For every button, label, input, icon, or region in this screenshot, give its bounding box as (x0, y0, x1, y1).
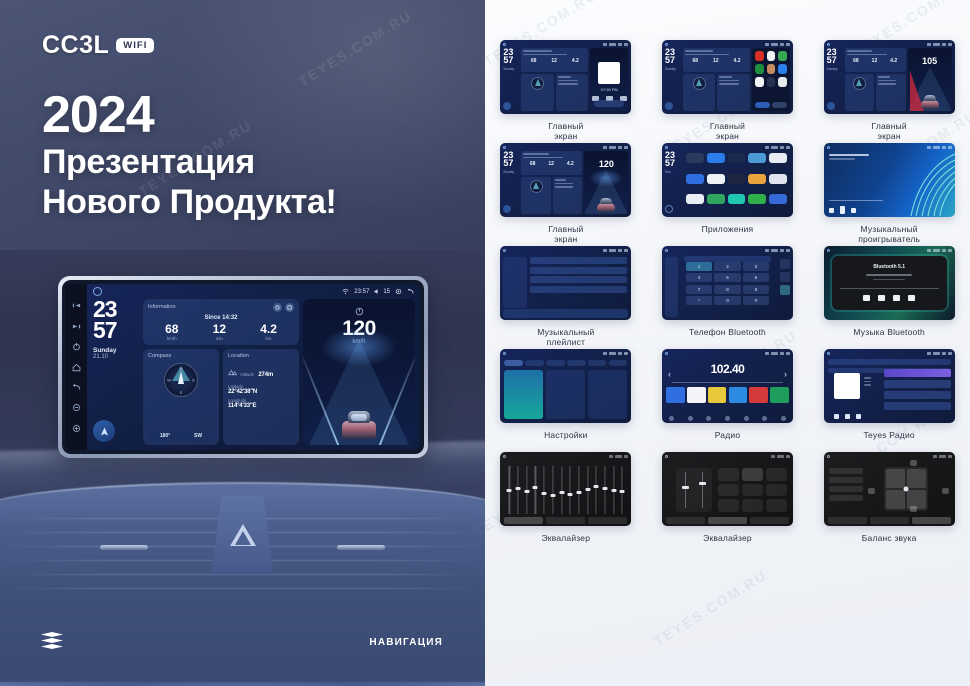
settings-cards[interactable] (504, 370, 627, 419)
balance-tabs[interactable] (828, 517, 951, 524)
wifi-badge: WIFI (116, 38, 154, 53)
navigation-fab-button[interactable] (93, 420, 115, 442)
gallery-item[interactable]: Музыкальныйпроигрыватель (808, 143, 970, 246)
radio-frequency: 102.40 (662, 362, 793, 376)
stat-unit: km/h (165, 336, 178, 341)
mountain-icon (228, 368, 237, 377)
screen-thumbnail-teyes-radio[interactable] (824, 349, 955, 423)
back-button[interactable] (72, 383, 81, 392)
thumbnail-caption: Музыка Bluetooth (853, 327, 925, 349)
compass-north: N (180, 366, 183, 371)
clock-minutes: 57 (93, 320, 139, 341)
screen-thumbnail-dialer[interactable]: 1 2 3 4 5 6 7 8 9 * 0 # (662, 246, 793, 320)
compass-west: W (167, 378, 171, 383)
hero-year: 2024 (42, 88, 462, 142)
screen-thumbnail-home-drive[interactable]: 2357Sunday 68124.2 105 (824, 40, 955, 114)
thumbnail-caption: Главныйэкран (548, 224, 583, 246)
next-track-button[interactable] (72, 322, 81, 331)
thumbnail-caption: Главныйэкран (872, 121, 907, 143)
dial-key[interactable]: 7 (686, 285, 712, 294)
status-time: 23:57 (354, 289, 369, 295)
screen-thumbnail-player[interactable] (824, 143, 955, 217)
watermark: TEYES.COM.RU (296, 7, 415, 90)
thumbnail-caption: Главныйэкран (710, 121, 745, 143)
gallery-item[interactable]: 2357Sunday 68124.2 (647, 40, 809, 143)
thumbnail-caption: Главныйэкран (548, 121, 583, 143)
stat-value: 4.2 (260, 323, 277, 335)
gallery-item[interactable]: 2357Sunday 68124.2 120 (485, 143, 647, 246)
balance-left-button[interactable] (868, 488, 875, 494)
wifi-card (504, 370, 543, 419)
head-unit-bezel: 23:57 15 (62, 280, 424, 454)
gallery-item[interactable]: 1 2 3 4 5 6 7 8 9 * 0 # Телеф (647, 246, 809, 349)
backspace-icon (780, 272, 790, 282)
dial-key[interactable]: 5 (714, 273, 740, 282)
teyes-station-list[interactable] (884, 369, 951, 419)
hero-panel: TEYES.COM.RU TEYES.COM.RU TEYES.COM.RU C… (0, 0, 485, 686)
screen-thumbnail-bt-music[interactable]: Bluetooth 5.1 (824, 246, 955, 320)
gallery-item[interactable]: 2357Sun Приложения (647, 143, 809, 246)
product-logo: CC3L WIFI (42, 33, 154, 58)
thumbnail-grid: 2357Sunday 68124.2 07:50 PM Главныйэкран (485, 40, 970, 555)
clock-date: 21.10 (93, 354, 139, 360)
thumbnail-caption: Приложения (702, 224, 754, 246)
navigation-label: НАВИГАЦИЯ (369, 637, 443, 648)
volume-up-button[interactable] (72, 424, 81, 433)
radio-dock[interactable] (662, 416, 793, 421)
hero-title-line2: Нового Продукта! (42, 182, 462, 222)
location-widget[interactable]: Location Altitude 274m (223, 349, 299, 445)
more-card (588, 370, 627, 419)
thumbnail-caption: Teyes Радио (864, 430, 915, 452)
equalizer-tabs[interactable] (666, 517, 789, 524)
gallery-item[interactable]: Баланс звука (808, 452, 970, 555)
watermark: TEYES.COM.RU (651, 567, 770, 650)
screen-thumbnail-home-apps[interactable]: 2357Sunday 68124.2 (662, 40, 793, 114)
screen-thumbnail-radio[interactable]: 102.40 ‹ › (662, 349, 793, 423)
information-title: Information (148, 304, 176, 310)
dial-key[interactable]: 9 (743, 285, 769, 294)
prev-icon (863, 295, 870, 301)
car-body (342, 421, 376, 439)
compass-title: Compass (148, 353, 214, 359)
next-station-button[interactable]: › (784, 369, 787, 379)
expand-icon[interactable] (285, 303, 294, 312)
information-header: Information (148, 303, 294, 312)
thumbnail-caption: Настройки (544, 430, 587, 452)
latitude-value: 22°42'38"N (228, 389, 294, 395)
compass-widget[interactable]: Compass N S W E (143, 349, 219, 445)
widget-column: Information Since 14:32 (143, 299, 299, 445)
compass-readout: 180° SW (148, 431, 214, 441)
wifi-icon (342, 288, 349, 295)
speed-gauge-icon (355, 307, 364, 316)
compass-direction: SW (194, 433, 202, 439)
thumbnail-caption: Радио (715, 430, 741, 452)
gallery-item[interactable]: Музыкальныйплейлист (485, 246, 647, 349)
eq2-preset-grid[interactable] (718, 468, 787, 512)
call-icon (780, 285, 790, 295)
stat-item: 12 min (213, 323, 226, 341)
thumb-speed-value: 120 (584, 159, 628, 169)
play-pause-icon (878, 295, 885, 301)
car-window (351, 414, 367, 421)
information-since: Since 14:32 (148, 315, 294, 321)
lead-car-model (342, 411, 376, 439)
location-title: Location (228, 353, 294, 359)
hazard-triangle-icon (230, 524, 256, 547)
back-icon[interactable] (407, 288, 414, 295)
dial-key[interactable]: 0 (714, 296, 740, 305)
hardware-button-bar[interactable] (65, 284, 87, 450)
thumbnail-caption: Музыкальныйпроигрыватель (858, 224, 920, 246)
dialer-keypad[interactable]: 1 2 3 4 5 6 7 8 9 * 0 # (686, 262, 769, 305)
gallery-item[interactable]: 2357Sunday 68124.2 07:50 PM Главныйэкран (485, 40, 647, 143)
presentation-slide: TEYES.COM.RU TEYES.COM.RU TEYES.COM.RU C… (0, 0, 970, 686)
logo-text: CC3L (42, 33, 109, 58)
home-button[interactable] (72, 363, 81, 372)
gallery-item[interactable]: Эквалайзер (647, 452, 809, 555)
power-button[interactable] (72, 342, 81, 351)
bluetooth-card (546, 370, 585, 419)
compass-needle (178, 371, 184, 384)
refresh-icon[interactable] (273, 303, 282, 312)
clock-weekday: Sunday (93, 347, 139, 354)
dial-key[interactable]: 3 (743, 262, 769, 271)
screen-thumbnail-balance[interactable] (824, 452, 955, 526)
head-unit-screen[interactable]: 23:57 15 (87, 284, 420, 450)
gallery-item[interactable]: Настройки (485, 349, 647, 452)
stop-icon (893, 295, 900, 301)
equalizer-tabs[interactable] (504, 517, 627, 524)
altitude-label: Altitude (240, 372, 254, 377)
location-latitude: Latitude 22°42'38"N (228, 384, 294, 395)
compass-south: S (180, 390, 183, 395)
screen-thumbnail-apps[interactable]: 2357Sun (662, 143, 793, 217)
prev-track-button[interactable] (72, 301, 81, 310)
equalizer-sliders[interactable] (506, 466, 625, 514)
dial-key[interactable]: * (686, 296, 712, 305)
thumbnail-caption: Эквалайзер (703, 533, 752, 555)
gallery-item[interactable]: Bluetooth 5.1 Музыка Bluetooth (808, 246, 970, 349)
volume-down-button[interactable] (72, 403, 81, 412)
information-widget[interactable]: Information Since 14:32 (143, 299, 299, 345)
dial-key[interactable]: 2 (714, 262, 740, 271)
screen-thumbnail-home-speed[interactable]: 2357Sunday 68124.2 120 (500, 143, 631, 217)
prev-station-button[interactable]: ‹ (668, 369, 671, 379)
widget-row: Compass N S W E (143, 349, 299, 445)
compass-heading: 180° (160, 433, 170, 439)
screen-thumbnail-home-media[interactable]: 2357Sunday 68124.2 07:50 PM (500, 40, 631, 114)
console-slot-left (100, 545, 148, 550)
thumbnail-caption: Баланс звука (862, 533, 917, 555)
gallery-item[interactable]: Эквалайзер (485, 452, 647, 555)
drive-assist-panel[interactable]: 120 km/h (303, 299, 415, 445)
dial-key[interactable]: 8 (714, 285, 740, 294)
hero-title-line1: Презентация (42, 142, 462, 182)
hero-footer: НАВИГАЦИЯ (0, 600, 485, 686)
balance-presets[interactable] (829, 468, 863, 504)
thumbnail-caption: Телефон Bluetooth (689, 327, 766, 349)
hazard-light-button[interactable] (212, 496, 274, 574)
screen-thumbnail-equalizer[interactable] (500, 452, 631, 526)
radio-presets[interactable] (666, 387, 789, 403)
information-actions[interactable] (273, 303, 294, 312)
stat-item: 68 km/h (165, 323, 178, 341)
stat-value: 68 (165, 323, 178, 335)
dialer-side-actions[interactable] (780, 259, 790, 298)
stat-unit: km (260, 336, 277, 341)
eq2-slider-panel[interactable] (676, 468, 712, 512)
bt-transport-controls[interactable] (832, 295, 947, 301)
layers-stack-icon (41, 632, 63, 650)
compass-east: E (192, 378, 195, 383)
status-bar: 23:57 15 (87, 284, 420, 299)
screen-body: 23 57 Sunday 21.10 (87, 299, 420, 450)
screen-thumbnail-playlist[interactable] (500, 246, 631, 320)
bt-title: Bluetooth 5.1 (832, 264, 947, 270)
clock-column: 23 57 Sunday 21.10 (93, 299, 139, 445)
dial-key[interactable]: 6 (743, 273, 769, 282)
fader-down-button[interactable] (910, 506, 917, 512)
thumb-speed-value: 105 (908, 56, 952, 66)
favorite-icon (780, 259, 790, 269)
home-indicator-icon[interactable] (93, 287, 102, 296)
head-unit-device: 23:57 15 (58, 276, 428, 458)
page-title: 2024 Презентация Нового Продукта! (42, 88, 462, 222)
compass-dial: N S W E (164, 363, 198, 397)
balance-fader-pad[interactable] (884, 467, 928, 511)
information-stats: 68 km/h 12 min 4.2 (148, 323, 294, 341)
thumbnail-caption: Эквалайзер (541, 533, 590, 555)
balance-right-button[interactable] (942, 488, 949, 494)
console-slot-right (337, 545, 385, 550)
bt-now-playing-card: Bluetooth 5.1 (832, 256, 947, 310)
dial-key[interactable]: 1 (686, 262, 712, 271)
gallery-item[interactable]: 2357Sunday 68124.2 105 (808, 40, 970, 143)
stat-item: 4.2 km (260, 323, 277, 341)
gear-icon[interactable] (395, 288, 402, 295)
dial-key[interactable]: # (743, 296, 769, 305)
screen-thumbnail-equalizer-2[interactable] (662, 452, 793, 526)
navigation-arrow-icon (99, 426, 110, 437)
altitude-value: 274m (258, 372, 273, 378)
screens-gallery: TEYES.COM.RU TEYES.COM.RU TEYES.COM.RU T… (485, 0, 970, 686)
screen-thumbnail-settings[interactable] (500, 349, 631, 423)
location-altitude: Altitude 274m (228, 363, 294, 381)
stat-unit: min (213, 336, 226, 341)
longitude-value: 114°4'33"E (228, 403, 294, 409)
gallery-item[interactable]: Teyes Радио (808, 349, 970, 452)
road-visualization (303, 333, 415, 445)
dial-key[interactable]: 4 (686, 273, 712, 282)
thumbnail-caption: Музыкальныйплейлист (537, 327, 594, 349)
fader-up-button[interactable] (910, 460, 917, 466)
gallery-item[interactable]: 102.40 ‹ › Радио (647, 349, 809, 452)
volume-value: 15 (383, 289, 390, 295)
settings-tabs[interactable] (504, 360, 627, 366)
location-longitude: Longitude 114°4'33"E (228, 398, 294, 409)
volume-indicator: 15 (374, 288, 390, 295)
stat-value: 12 (213, 323, 226, 335)
next-icon (908, 295, 915, 301)
